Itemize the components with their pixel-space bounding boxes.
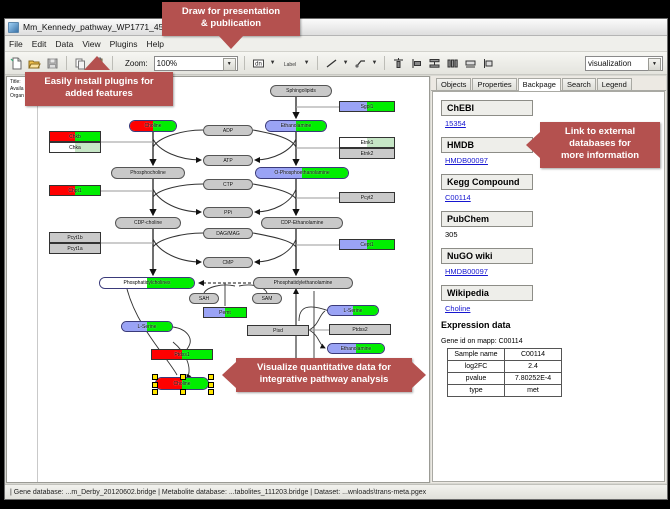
window-titlebar: Mm_Kennedy_pathway_WP1771_45176.gpml — [5, 19, 667, 36]
side-panel-tabs: Objects Properties Backpage Search Legen… — [431, 76, 666, 91]
gene-node-ptdss2[interactable]: Ptdss2 — [329, 324, 391, 335]
callout-draw-line2: & publication — [168, 18, 294, 30]
toolbar-separator-2 — [112, 56, 113, 70]
db-link-wikipedia[interactable]: Choline — [445, 304, 664, 313]
db-link-kegg[interactable]: C00114 — [445, 193, 664, 202]
chevron-down-icon-label[interactable]: ▼ — [304, 60, 310, 66]
callout-draw: Draw for presentation & publication — [162, 2, 300, 36]
node-label: Sgpl1 — [361, 104, 374, 110]
metabolite-node-ethanolamine[interactable]: Ethanolamine — [265, 120, 327, 132]
metabolite-node-cdp-choline[interactable]: CDP-choline — [115, 217, 181, 229]
callout-draw-line1: Draw for presentation — [168, 6, 294, 18]
canvas-divider — [37, 77, 38, 482]
gene-node-sgpl1[interactable]: Sgpl1 — [339, 101, 395, 112]
node-label: Sphingolipids — [286, 88, 316, 94]
db-value-pubchem: 305 — [445, 230, 664, 239]
metabolite-node-o-phosphoethanolamine[interactable]: O-Phosphoethanolamine — [255, 167, 349, 179]
metabolite-node-choline-top[interactable]: Choline — [129, 120, 177, 132]
stack-vertical-icon[interactable] — [427, 56, 442, 71]
new-file-icon[interactable] — [9, 56, 24, 71]
db-link-nugowiki[interactable]: HMDB00097 — [445, 267, 664, 276]
data-node-icon[interactable]: dn — [251, 56, 266, 71]
metabolite-node-ethanolamine-right[interactable]: Ethanolamine — [327, 343, 385, 354]
node-label: Pisd — [273, 328, 283, 334]
node-label: Chkb — [69, 134, 81, 140]
size-common-icon[interactable] — [463, 56, 478, 71]
selection-handle[interactable] — [208, 382, 214, 388]
gene-node-ptdss1[interactable]: Ptdss1 — [151, 349, 213, 360]
callout-plugins-line2: added features — [31, 88, 167, 100]
gene-node-pcyt2[interactable]: Pcyt2 — [339, 192, 395, 203]
menubar: File Edit Data View Plugins Help — [5, 36, 667, 52]
node-label: L-Serine — [344, 308, 363, 314]
cell-value-sample-name: C00114 — [505, 349, 562, 361]
status-bar: | Gene database: ...m_Derby_20120602.bri… — [5, 484, 667, 499]
metabolite-node-ctp[interactable]: CTP — [203, 179, 253, 190]
gene-node-pisd[interactable]: Pisd — [247, 325, 309, 336]
label-icon[interactable]: Label — [280, 56, 300, 71]
status-bar-text: | Gene database: ...m_Derby_20120602.bri… — [10, 489, 426, 496]
metabolite-node-phosphatidylethanolamine[interactable]: Phosphatidylethanolamine — [253, 277, 353, 289]
toolbar-separator-5 — [384, 56, 385, 70]
callout-links-line2: databases for — [546, 138, 654, 150]
expression-data-title: Expression data — [441, 320, 664, 330]
node-label: CTP — [223, 182, 233, 188]
chevron-down-icon-visualization[interactable]: ▼ — [648, 58, 661, 71]
db-header-wikipedia: Wikipedia — [441, 285, 533, 301]
metabolite-node-phosphatidylcholines[interactable]: Phosphatidylcholines — [99, 277, 195, 289]
tab-backpage[interactable]: Backpage — [518, 78, 561, 91]
metabolite-node-phosphocholine[interactable]: Phosphocholine — [111, 167, 185, 179]
save-icon[interactable] — [45, 56, 60, 71]
screenshot-root: Mm_Kennedy_pathway_WP1771_45176.gpml Fil… — [0, 0, 670, 509]
callout-visualize-line2: integrative pathway analysis — [242, 374, 406, 386]
size-width-icon[interactable] — [481, 56, 496, 71]
selection-handle[interactable] — [152, 382, 158, 388]
canvas-meta-organism: Organ — [10, 93, 24, 100]
callout-visualize-line1: Visualize quantitative data for — [242, 362, 406, 374]
cell-value-pvalue: 7.80252E-4 — [505, 373, 562, 385]
callout-plugins-arrow — [84, 56, 110, 70]
node-label: Choline — [145, 123, 162, 129]
tab-properties[interactable]: Properties — [472, 78, 516, 90]
chevron-down-icon-line[interactable]: ▼ — [343, 60, 349, 66]
metabolite-node-sam[interactable]: SAM — [252, 293, 282, 304]
db-header-kegg: Kegg Compound — [441, 174, 533, 190]
cell-label-pvalue: pvalue — [448, 373, 505, 385]
table-row: log2FC 2.4 — [448, 361, 562, 373]
menu-item-edit[interactable]: Edit — [32, 39, 47, 49]
pathway-canvas[interactable]: Title: Availa Organ — [6, 76, 430, 483]
expression-data-table: Sample name C00114 log2FC 2.4 pvalue 7.8… — [447, 348, 562, 397]
node-label: Phosphatidylcholines — [124, 280, 171, 286]
metabolite-node-dag-mag[interactable]: DAG/MAG — [203, 228, 253, 239]
line-icon[interactable] — [324, 56, 339, 71]
distribute-icon[interactable] — [445, 56, 460, 71]
callout-draw-arrow — [218, 35, 244, 49]
node-label: Choline — [174, 381, 191, 387]
gene-node-chkb[interactable]: Chkb — [49, 131, 101, 142]
metabolite-node-ppi[interactable]: PPi — [203, 207, 253, 218]
metabolite-node-cdp-ethanolamine[interactable]: CDP-Ethanolamine — [261, 217, 343, 229]
node-label: Phosphatidylethanolamine — [274, 280, 333, 286]
node-label: SAH — [199, 296, 209, 302]
node-label: CMP — [222, 260, 233, 266]
table-row: pvalue 7.80252E-4 — [448, 373, 562, 385]
canvas-meta-title: Title: — [10, 79, 24, 86]
callout-visualize-arrow-left — [222, 362, 236, 388]
menu-item-view[interactable]: View — [82, 39, 100, 49]
menu-item-help[interactable]: Help — [147, 39, 164, 49]
metabolite-node-cmp[interactable]: CMP — [203, 257, 253, 268]
gene-node-pcyt1a[interactable]: Pcyt1a — [49, 243, 101, 254]
selection-handle[interactable] — [208, 389, 214, 395]
tab-search[interactable]: Search — [562, 78, 596, 90]
node-label: Phosphocholine — [130, 170, 166, 176]
metabolite-node-sah[interactable]: SAH — [189, 293, 219, 304]
cell-value-type: met — [505, 385, 562, 397]
node-label: Cept1 — [360, 242, 373, 248]
cell-value-log2fc: 2.4 — [505, 361, 562, 373]
menu-item-data[interactable]: Data — [55, 39, 73, 49]
node-label: Ptdss2 — [352, 327, 367, 333]
app-icon — [8, 22, 19, 33]
node-label: Ptdss1 — [174, 352, 189, 358]
callout-plugins-line1: Easily install plugins for — [31, 76, 167, 88]
callout-links-line1: Link to external — [546, 126, 654, 138]
cell-label-type: type — [448, 385, 505, 397]
node-label: Pcyt1b — [67, 235, 82, 241]
visualization-combobox[interactable]: visualization ▼ — [585, 56, 663, 71]
node-label: L-Serine — [138, 324, 157, 330]
selection-handle[interactable] — [152, 374, 158, 380]
node-label: DAG/MAG — [216, 231, 240, 237]
node-label: Ethanolamine — [281, 123, 312, 129]
metabolite-node-sphingolipids[interactable]: Sphingolipids — [270, 85, 332, 97]
gene-node-etnk2[interactable]: Etnk2 — [339, 148, 395, 159]
db-header-chebi: ChEBI — [441, 100, 533, 116]
node-label: CDP-Ethanolamine — [281, 220, 324, 226]
gene-node-chka[interactable]: Chka — [49, 142, 101, 153]
canvas-meta-available: Availa — [10, 86, 24, 93]
metabolite-node-atp[interactable]: ATP — [203, 155, 253, 166]
gene-node-etnk1[interactable]: Etnk1 — [339, 137, 395, 148]
metabolite-node-l-serine-left[interactable]: L-Serine — [121, 321, 173, 332]
node-label: Chpt1 — [68, 188, 81, 194]
node-label: PPi — [224, 210, 232, 216]
svg-text:dn: dn — [255, 61, 262, 67]
tab-objects[interactable]: Objects — [436, 78, 471, 90]
visualization-value: visualization — [588, 59, 632, 68]
node-label: CDP-choline — [134, 220, 162, 226]
toolbar-separator-3 — [244, 56, 245, 70]
zoom-combobox[interactable]: 100% ▼ — [154, 56, 238, 71]
menu-item-file[interactable]: File — [9, 39, 23, 49]
node-label: Etnk1 — [361, 140, 374, 146]
node-label: Pcyt1a — [67, 246, 82, 252]
db-header-pubchem: PubChem — [441, 211, 533, 227]
callout-visualize-arrow-right — [412, 362, 426, 388]
db-header-nugowiki: NuGO wiki — [441, 248, 533, 264]
callout-links-line3: more information — [546, 150, 654, 162]
selection-handle[interactable] — [152, 389, 158, 395]
node-label: Ethanolamine — [341, 346, 372, 352]
node-label: Pemt — [219, 310, 231, 316]
selection-handle[interactable] — [180, 374, 186, 380]
chevron-down-icon-datanode[interactable]: ▼ — [270, 60, 276, 66]
gene-node-chpt1[interactable]: Chpt1 — [49, 185, 101, 196]
chevron-down-icon[interactable]: ▼ — [223, 58, 236, 71]
svg-text:Label: Label — [284, 62, 296, 68]
zoom-value: 100% — [157, 59, 177, 68]
chevron-down-icon-interaction[interactable]: ▼ — [372, 60, 378, 66]
node-label: Chka — [69, 145, 81, 151]
node-label: Etnk2 — [361, 151, 374, 157]
gene-node-pemt[interactable]: Pemt — [203, 307, 247, 318]
selection-handle[interactable] — [208, 374, 214, 380]
interaction-icon[interactable] — [353, 56, 368, 71]
canvas-meta: Title: Availa Organ — [10, 79, 24, 100]
metabolite-node-adp[interactable]: ADP — [203, 125, 253, 136]
callout-links-arrow — [526, 132, 540, 158]
table-row: Sample name C00114 — [448, 349, 562, 361]
callout-plugins: Easily install plugins for added feature… — [25, 72, 173, 106]
menu-item-plugins[interactable]: Plugins — [110, 39, 138, 49]
gene-id-on-mapp: Gene id on mapp: C00114 — [441, 338, 664, 345]
open-folder-icon[interactable] — [27, 56, 42, 71]
db-header-hmdb: HMDB — [441, 137, 533, 153]
tab-legend[interactable]: Legend — [597, 78, 632, 90]
toolbar-separator-4 — [317, 56, 318, 70]
node-label: SAM — [262, 296, 273, 302]
cell-label-log2fc: log2FC — [448, 361, 505, 373]
align-top-icon[interactable] — [391, 56, 406, 71]
callout-visualize: Visualize quantitative data for integrat… — [236, 358, 412, 392]
node-label: ADP — [223, 128, 233, 134]
node-label: Pcyt2 — [361, 195, 374, 201]
table-row: type met — [448, 385, 562, 397]
callout-links: Link to external databases for more info… — [540, 122, 660, 168]
selection-handle[interactable] — [180, 389, 186, 395]
cell-label-sample-name: Sample name — [448, 349, 505, 361]
gene-node-cept1[interactable]: Cept1 — [339, 239, 395, 250]
toolbar-separator — [66, 56, 67, 70]
node-label: O-Phosphoethanolamine — [274, 170, 329, 176]
node-label: ATP — [223, 158, 232, 164]
metabolite-node-l-serine-right[interactable]: L-Serine — [327, 305, 379, 316]
align-left-icon[interactable] — [409, 56, 424, 71]
gene-node-pcyt1b[interactable]: Pcyt1b — [49, 232, 101, 243]
zoom-label: Zoom: — [125, 59, 148, 68]
